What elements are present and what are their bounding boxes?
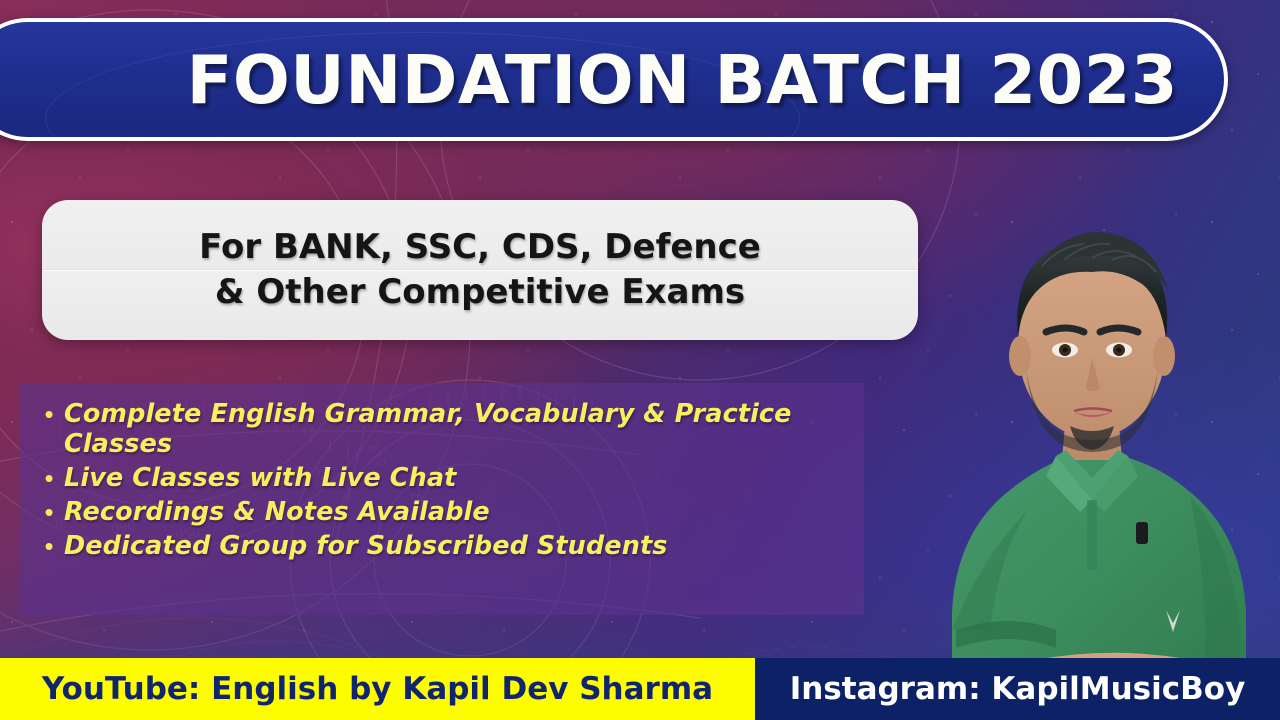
- page-title: FOUNDATION BATCH 2023: [187, 41, 1178, 119]
- feature-text-2: Live Classes with Live Chat: [64, 463, 456, 493]
- bullet-dot-icon: •: [34, 531, 64, 560]
- feature-text-1: Complete English Grammar, Vocabulary & P…: [64, 399, 834, 459]
- feature-text-3: Recordings & Notes Available: [64, 497, 490, 527]
- subtitle-line-1: For BANK, SSC, CDS, Defence: [199, 225, 761, 270]
- feature-text-4: Dedicated Group for Subscribed Students: [64, 531, 668, 561]
- presenter-photo: [860, 160, 1280, 720]
- bullet-dot-icon: •: [34, 463, 64, 492]
- instagram-handle-label: Instagram: KapilMusicBoy: [790, 671, 1246, 707]
- bullet-dot-icon: •: [34, 497, 64, 526]
- youtube-channel-bar[interactable]: YouTube: English by Kapil Dev Sharma: [0, 658, 755, 720]
- title-banner: FOUNDATION BATCH 2023: [0, 18, 1228, 141]
- instagram-handle-bar[interactable]: Instagram: KapilMusicBoy: [755, 658, 1280, 720]
- footer-bar: YouTube: English by Kapil Dev Sharma Ins…: [0, 658, 1280, 720]
- list-item: • Recordings & Notes Available: [34, 497, 864, 527]
- list-item: • Complete English Grammar, Vocabulary &…: [34, 399, 864, 459]
- promo-slide: 220 230 220 090 050 060: [0, 0, 1280, 720]
- bullet-dot-icon: •: [34, 399, 64, 428]
- subtitle-line-2: & Other Competitive Exams: [215, 270, 745, 315]
- list-item: • Live Classes with Live Chat: [34, 463, 864, 493]
- list-item: • Dedicated Group for Subscribed Student…: [34, 531, 864, 561]
- features-panel: • Complete English Grammar, Vocabulary &…: [20, 383, 864, 615]
- subtitle-card: For BANK, SSC, CDS, Defence & Other Comp…: [42, 200, 918, 340]
- youtube-channel-label: YouTube: English by Kapil Dev Sharma: [42, 671, 713, 707]
